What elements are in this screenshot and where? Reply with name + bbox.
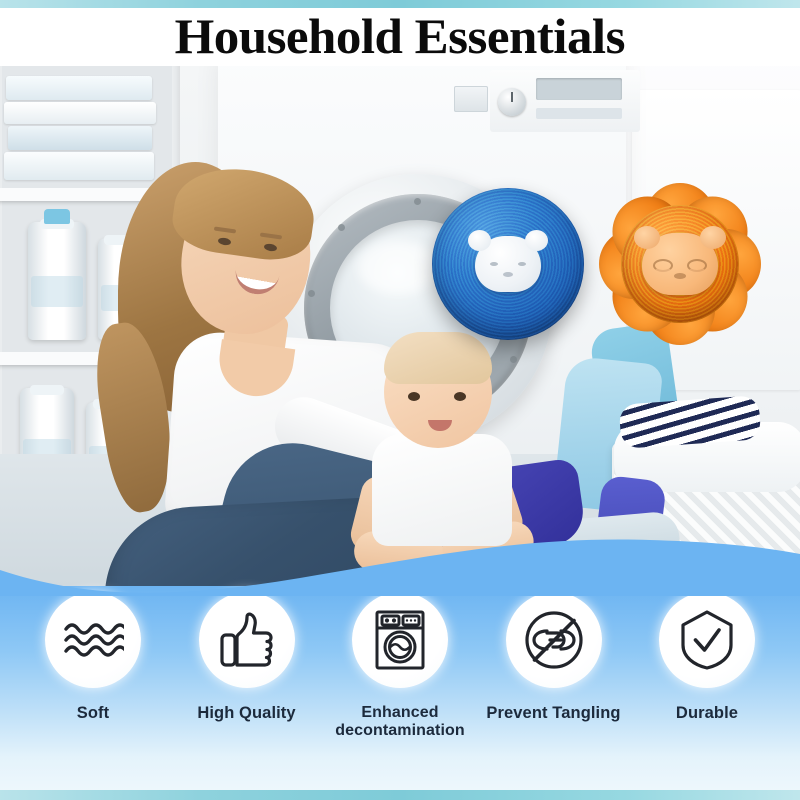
product-marketing-image: Household Essentials — [0, 0, 800, 800]
feature-label: Durable — [676, 704, 738, 722]
baby-eye — [454, 392, 466, 401]
detergent-drawer — [454, 86, 488, 112]
hero-photo — [0, 66, 800, 586]
detergent-bottle — [28, 222, 86, 340]
feature-icon-bubble — [199, 592, 295, 688]
feature-durable[interactable]: Durable — [632, 586, 782, 722]
no-tangle-icon — [523, 609, 585, 671]
bottom-accent-bar — [0, 790, 800, 800]
feature-icon-bubble — [45, 592, 141, 688]
lion-face — [642, 233, 718, 295]
program-dial — [498, 88, 526, 116]
page-title: Household Essentials — [175, 11, 625, 63]
lion-ear — [634, 226, 660, 249]
feature-icon-bubble — [659, 592, 755, 688]
wave-divider — [0, 526, 800, 596]
shield-check-icon — [679, 609, 735, 671]
feature-icon-bubble — [352, 592, 448, 688]
folded-towel — [6, 76, 152, 100]
feature-label: Soft — [77, 704, 109, 722]
feature-label: High Quality — [197, 704, 295, 722]
lion-nose — [674, 273, 686, 279]
title-banner: Household Essentials — [0, 8, 800, 66]
bear-ear — [525, 230, 548, 251]
feature-label-line1: Enhanced — [361, 704, 438, 721]
bear-eye — [518, 262, 526, 266]
lion-eye — [653, 259, 673, 272]
features-panel: Soft High Quality — [0, 586, 800, 790]
washing-machine-icon — [374, 609, 426, 671]
orange-lint-ball-product — [598, 182, 762, 346]
thumbs-up-icon — [219, 611, 275, 669]
bear-face — [475, 236, 541, 292]
folded-towel — [8, 126, 152, 150]
bottle-label — [31, 276, 82, 307]
control-panel — [490, 70, 640, 132]
bear-nose — [503, 272, 513, 277]
baby-eye — [408, 392, 420, 401]
bear-ear — [468, 230, 491, 251]
lion-eye — [687, 259, 707, 272]
blue-lint-ball-product — [432, 188, 584, 340]
waves-icon — [62, 618, 124, 662]
bottle-neck — [30, 385, 64, 395]
display-screen — [536, 78, 622, 100]
feature-prevent-tangling[interactable]: Prevent Tangling — [479, 586, 629, 722]
bottle-cap — [44, 209, 70, 224]
top-accent-bar — [0, 0, 800, 8]
folded-towel — [4, 102, 156, 124]
features-row: Soft High Quality — [0, 586, 800, 790]
feature-icon-bubble — [506, 592, 602, 688]
feature-label: Enhanced decontamination — [335, 704, 465, 740]
lion-ear — [700, 226, 726, 249]
feature-high-quality[interactable]: High Quality — [172, 586, 322, 722]
bear-eye — [490, 262, 498, 266]
feature-label-line2: decontamination — [335, 722, 465, 739]
feature-enhanced-decontamination[interactable]: Enhanced decontamination — [325, 586, 475, 740]
button-row — [536, 108, 622, 119]
feature-soft[interactable]: Soft — [18, 586, 168, 722]
feature-label: Prevent Tangling — [486, 704, 620, 722]
